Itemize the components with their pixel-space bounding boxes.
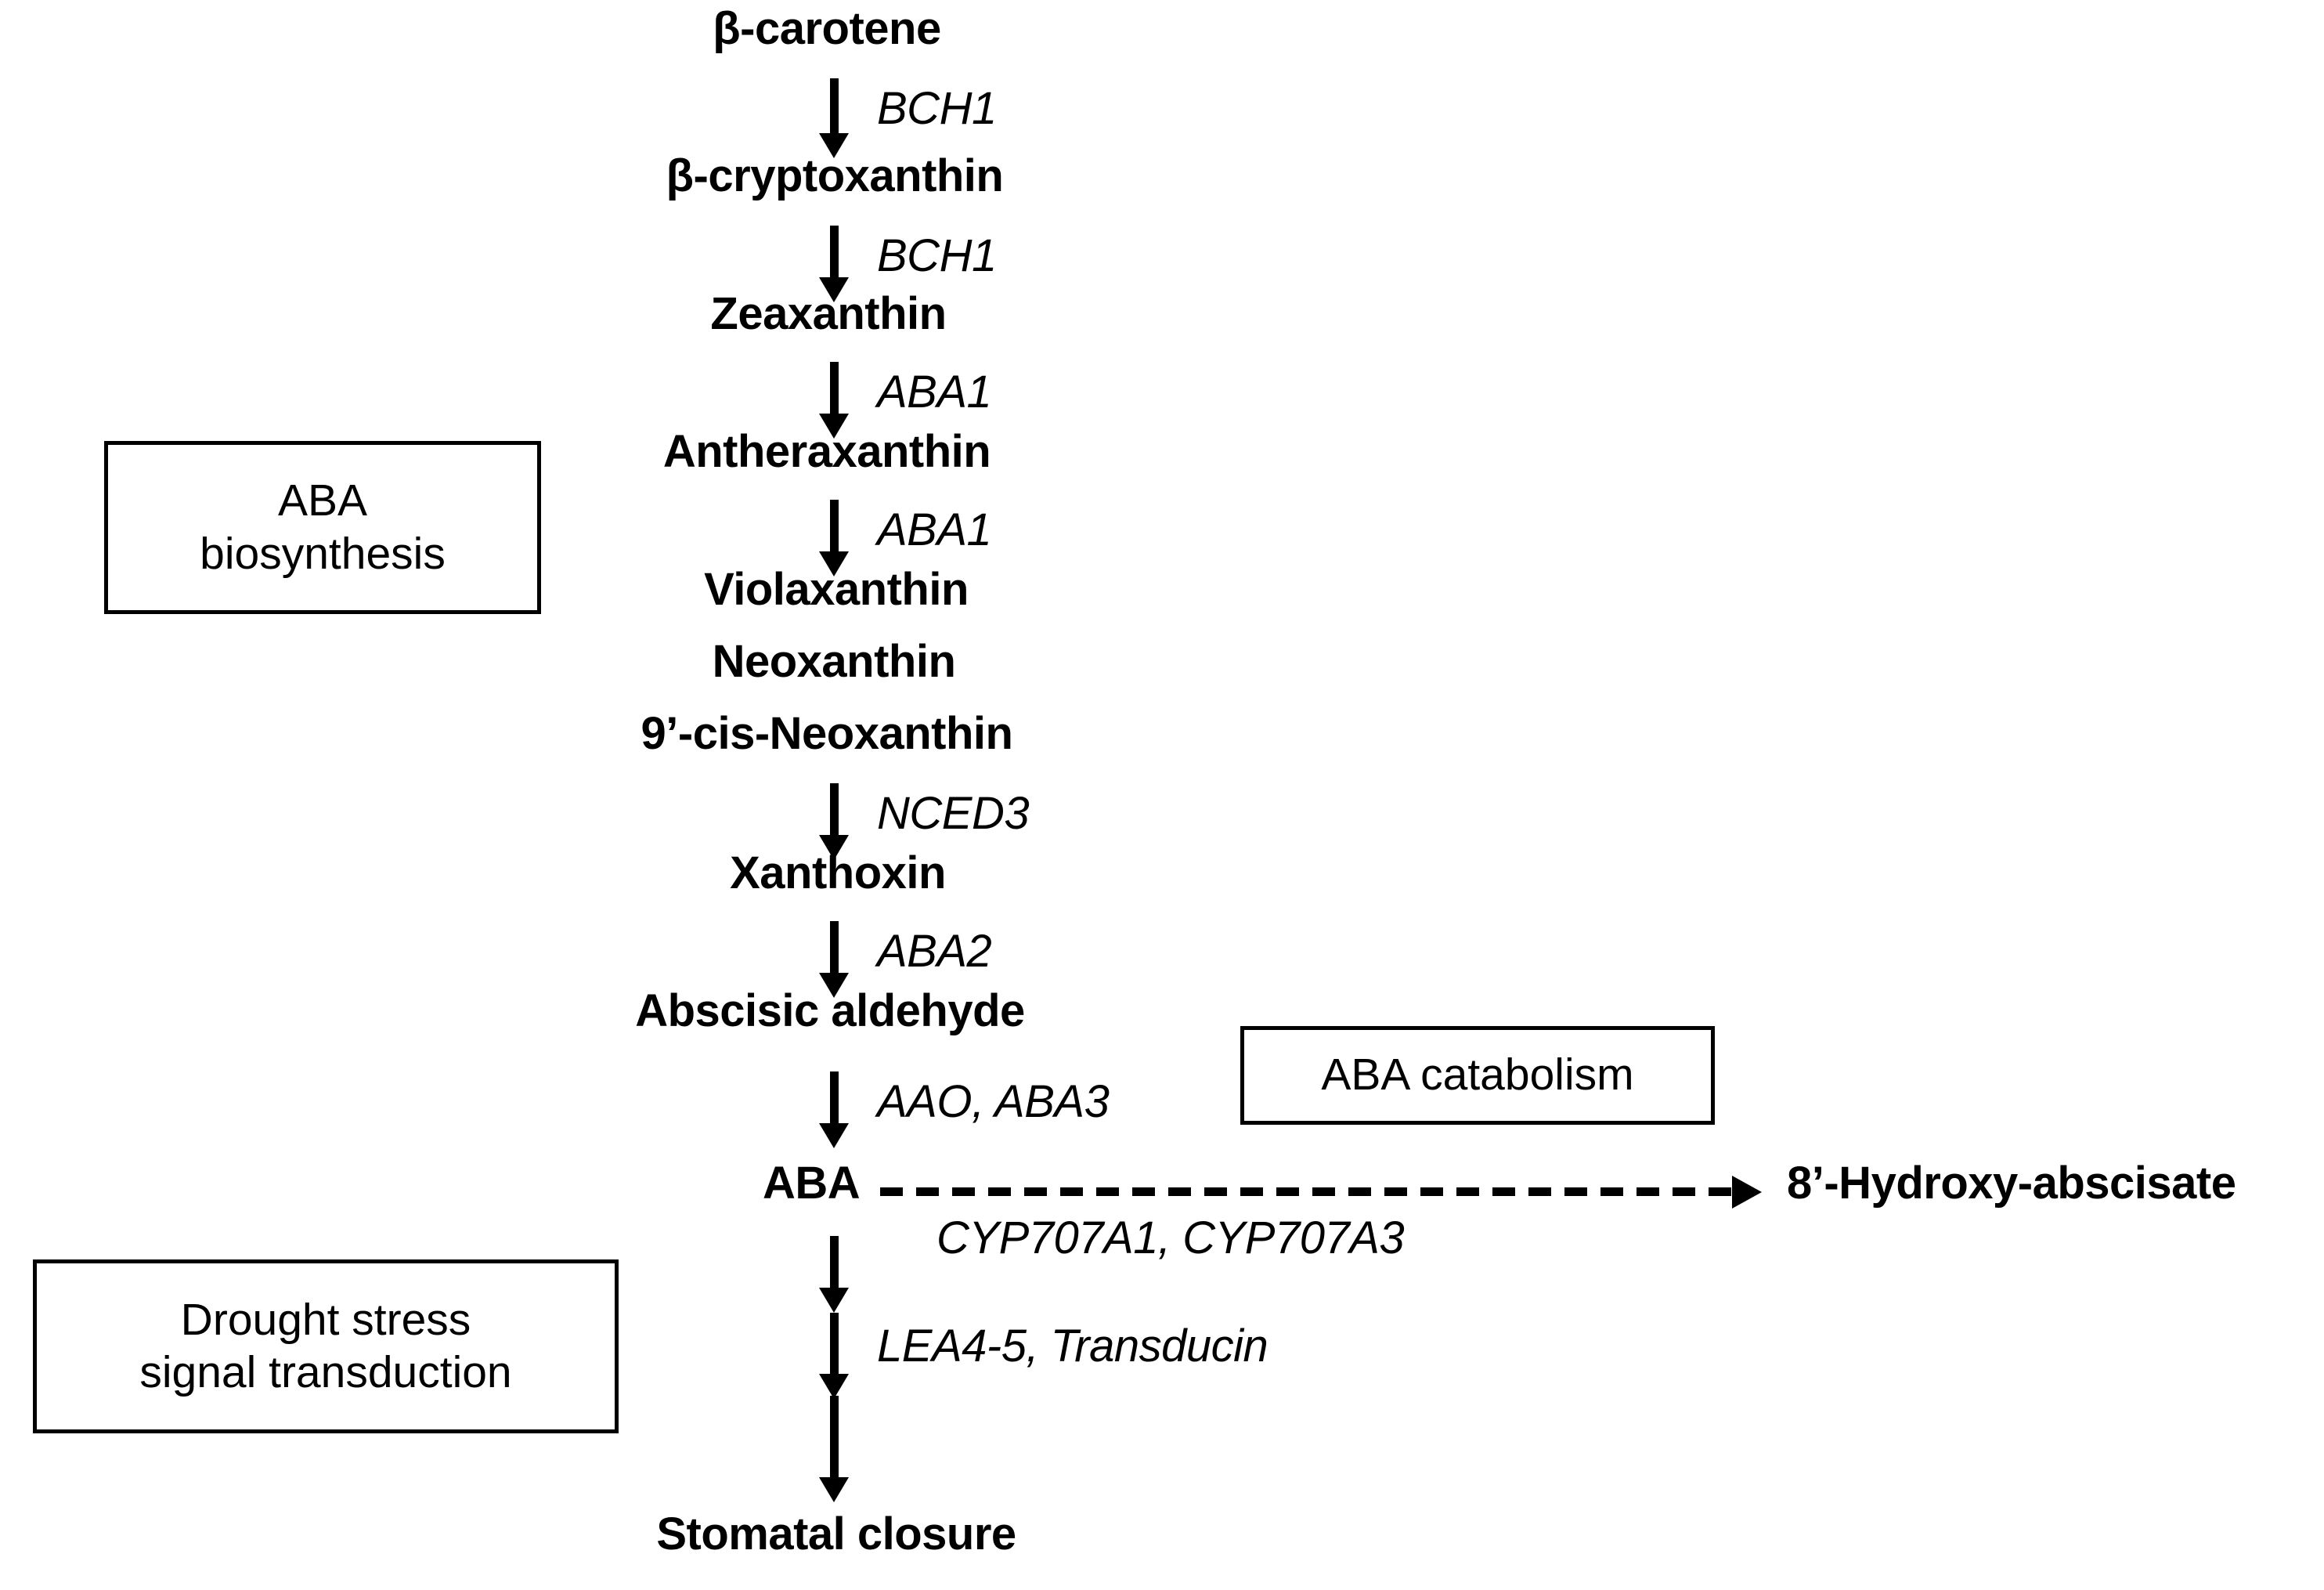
enzyme-label-aba1-a: ABA1 — [877, 370, 991, 415]
enzyme-label-bch1-b: BCH1 — [877, 233, 997, 279]
arrow-to-stomatal-closure — [818, 1396, 850, 1502]
metabolite-aba: ABA — [763, 1161, 860, 1206]
dashed-arrow-shaft-aba-catabolism — [880, 1187, 1734, 1196]
metabolite-9-cis-neoxanthin: 9’-cis-Neoxanthin — [641, 711, 1013, 757]
arrow-lea4-5 — [818, 1313, 850, 1399]
group-box-label-aba-catabolism: ABA catabolism — [1321, 1049, 1633, 1101]
metabolite-neoxanthin: Neoxanthin — [713, 639, 956, 685]
enzyme-label-cyp707: CYP707A1, CYP707A3 — [936, 1216, 1404, 1261]
arrow-bch1-b — [818, 226, 850, 302]
enzyme-label-nced3: NCED3 — [877, 791, 1029, 837]
enzyme-label-lea4-5: LEA4-5, Transducin — [877, 1324, 1268, 1369]
enzyme-label-aba2: ABA2 — [877, 929, 991, 974]
group-box-aba-catabolism: ABA catabolism — [1240, 1026, 1715, 1125]
group-box-drought-signal: Drought stress signal transduction — [33, 1259, 619, 1433]
enzyme-label-aao-aba3: AAO, ABA3 — [877, 1079, 1109, 1125]
arrow-aba-down-1 — [818, 1236, 850, 1313]
arrow-bch1-a — [818, 78, 850, 158]
arrow-aba2 — [818, 921, 850, 998]
arrow-aao-aba3 — [818, 1071, 850, 1148]
arrow-nced3 — [818, 783, 850, 860]
enzyme-label-bch1-a: BCH1 — [877, 86, 997, 132]
diagram-canvas: β-carotene β-cryptoxanthin Zeaxanthin An… — [0, 0, 2324, 1590]
metabolite-beta-carotene: β-carotene — [713, 6, 941, 52]
enzyme-label-aba1-b: ABA1 — [877, 508, 991, 553]
arrow-aba1-b — [818, 500, 850, 576]
group-box-aba-biosynthesis: ABA biosynthesis — [104, 441, 541, 614]
metabolite-8-hydroxy-abscisate: 8’-Hydroxy-abscisate — [1787, 1161, 2236, 1206]
metabolite-stomatal-closure: Stomatal closure — [656, 1512, 1016, 1557]
group-box-label-drought-signal: Drought stress signal transduction — [139, 1294, 511, 1400]
arrow-aba1-a — [818, 362, 850, 439]
group-box-label-aba-biosynthesis: ABA biosynthesis — [200, 475, 446, 580]
dashed-arrow-head-aba-catabolism — [1732, 1176, 1762, 1209]
metabolite-beta-cryptoxanthin: β-cryptoxanthin — [666, 154, 1004, 199]
